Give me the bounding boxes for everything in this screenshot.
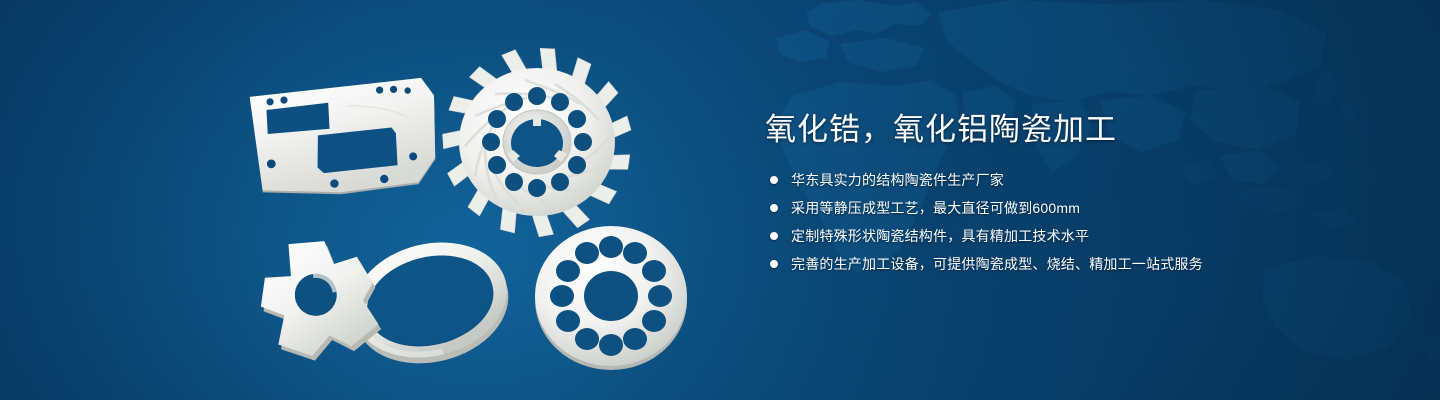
list-item: 华东具实力的结构陶瓷件生产厂家: [770, 170, 1385, 190]
ceramic-plate: [246, 72, 442, 202]
bullet-dot-icon: [770, 232, 778, 240]
list-item: 完善的生产加工设备，可提供陶瓷成型、烧结、精加工一站式服务: [770, 254, 1385, 274]
feature-list: 华东具实力的结构陶瓷件生产厂家 采用等静压成型工艺，最大直径可做到600mm 定…: [770, 170, 1385, 274]
list-item: 定制特殊形状陶瓷结构件，具有精加工技术水平: [770, 226, 1385, 246]
hero-banner: 氧化锆，氧化铝陶瓷加工 华东具实力的结构陶瓷件生产厂家 采用等静压成型工艺，最大…: [0, 0, 1440, 400]
ceramic-impeller: [442, 48, 636, 244]
list-item: 采用等静压成型工艺，最大直径可做到600mm: [770, 198, 1385, 218]
ceramic-cross-plate-and-ring: [248, 222, 528, 374]
feature-text: 完善的生产加工设备，可提供陶瓷成型、烧结、精加工一站式服务: [791, 254, 1203, 274]
ceramic-hole-disc: [518, 222, 704, 372]
page-title: 氧化锆，氧化铝陶瓷加工: [765, 110, 1385, 150]
feature-text: 华东具实力的结构陶瓷件生产厂家: [791, 170, 1004, 190]
feature-text: 定制特殊形状陶瓷结构件，具有精加工技术水平: [791, 226, 1089, 246]
bullet-dot-icon: [770, 260, 778, 268]
copy-block: 氧化锆，氧化铝陶瓷加工 华东具实力的结构陶瓷件生产厂家 采用等静压成型工艺，最大…: [765, 110, 1385, 282]
feature-text: 采用等静压成型工艺，最大直径可做到600mm: [791, 198, 1080, 218]
bullet-dot-icon: [770, 176, 778, 184]
bullet-dot-icon: [770, 204, 778, 212]
